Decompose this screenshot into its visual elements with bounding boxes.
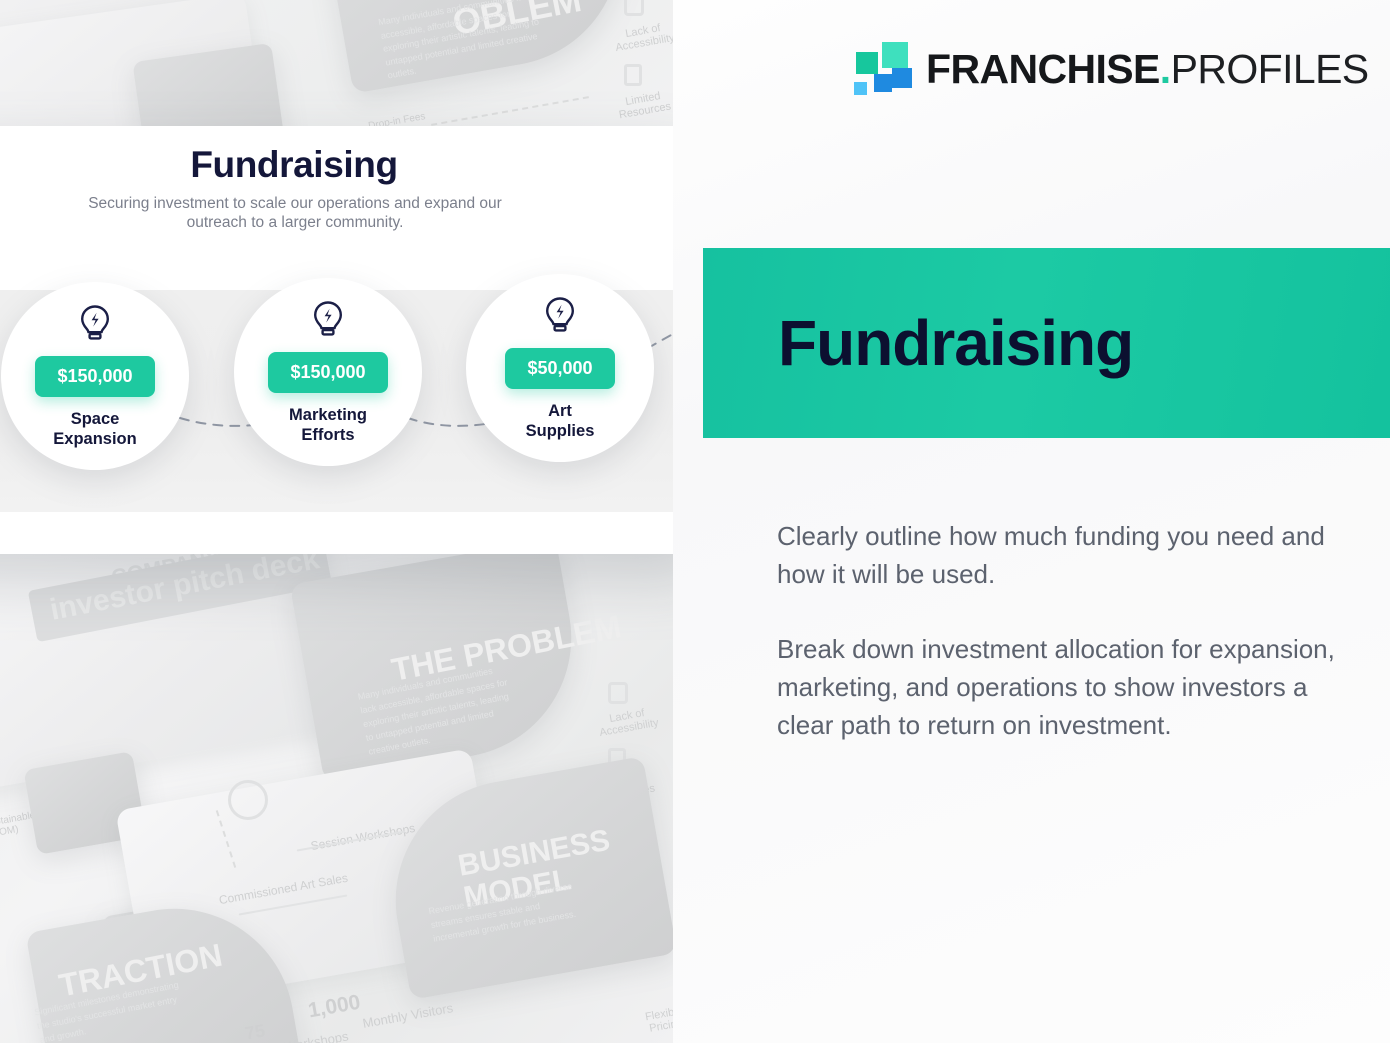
fundraising-slide-card: Fundraising Securing investment to scale… <box>0 126 673 554</box>
body-copy: Clearly outline how much funding you nee… <box>777 518 1357 744</box>
card-bottom-band <box>0 512 673 554</box>
funding-amount: $150,000 <box>268 352 387 393</box>
funding-pillar[interactable]: $150,000 Marketing Efforts <box>234 278 422 466</box>
funding-pillar[interactable]: $150,000 Space Expansion <box>1 282 189 470</box>
ghost-icon-hourglass-top <box>624 64 642 86</box>
ghost-dash-top <box>431 96 589 126</box>
card-title: Fundraising <box>0 144 673 186</box>
ghost-label-limited-top: Limited Resources <box>603 86 673 124</box>
funding-pillar[interactable]: $50,000 Art Supplies <box>466 274 654 462</box>
body-paragraph: Clearly outline how much funding you nee… <box>777 518 1357 593</box>
logo-strong: FRANCHISE <box>926 46 1160 92</box>
lightbulb-bolt-icon <box>543 296 577 336</box>
funding-amount: $50,000 <box>505 348 614 389</box>
lightbulb-bolt-icon <box>78 304 112 344</box>
ghost-label-accessibility: Lack of Accessibility <box>587 703 670 741</box>
lightbulb-bolt-icon <box>311 300 345 340</box>
ghost-stat-visitors-value: 1,000 <box>306 991 362 1024</box>
brand-logo: FRANCHISE.PROFILES <box>848 40 1369 98</box>
ghost-icon-document <box>608 682 628 704</box>
funding-label: Space Expansion <box>53 409 136 449</box>
ghost-stat-workshops-value: 75 <box>243 1020 266 1043</box>
ghost-icon-doc-top <box>624 0 644 16</box>
ghost-icon-dollar <box>228 780 268 820</box>
brand-logo-text: FRANCHISE.PROFILES <box>926 49 1369 90</box>
funding-amount: $150,000 <box>35 356 154 397</box>
logo-dot: . <box>1160 46 1171 92</box>
ghost-label-flexible-pricing: Flexible Pricing <box>628 1002 673 1038</box>
section-banner: Fundraising <box>703 248 1390 438</box>
funding-label: Marketing Efforts <box>289 405 367 445</box>
logo-thin: PROFILES <box>1171 46 1369 92</box>
background-pitch-deck-panel: KET ces in urban and is substantial ⤷ OB… <box>0 0 673 1043</box>
funding-label: Art Supplies <box>526 401 595 441</box>
franchise-profiles-mark-icon <box>848 40 912 98</box>
banner-title: Fundraising <box>778 306 1133 380</box>
ghost-stat-visitors-label: Monthly Visitors <box>361 1000 454 1031</box>
ghost-label-accessibility-top: Lack of Accessibility <box>603 18 673 56</box>
content-panel: FRANCHISE.PROFILES Fundraising Clearly o… <box>673 0 1390 1043</box>
body-paragraph: Break down investment allocation for exp… <box>777 631 1357 744</box>
card-subtitle: Securing investment to scale our operati… <box>60 194 530 232</box>
